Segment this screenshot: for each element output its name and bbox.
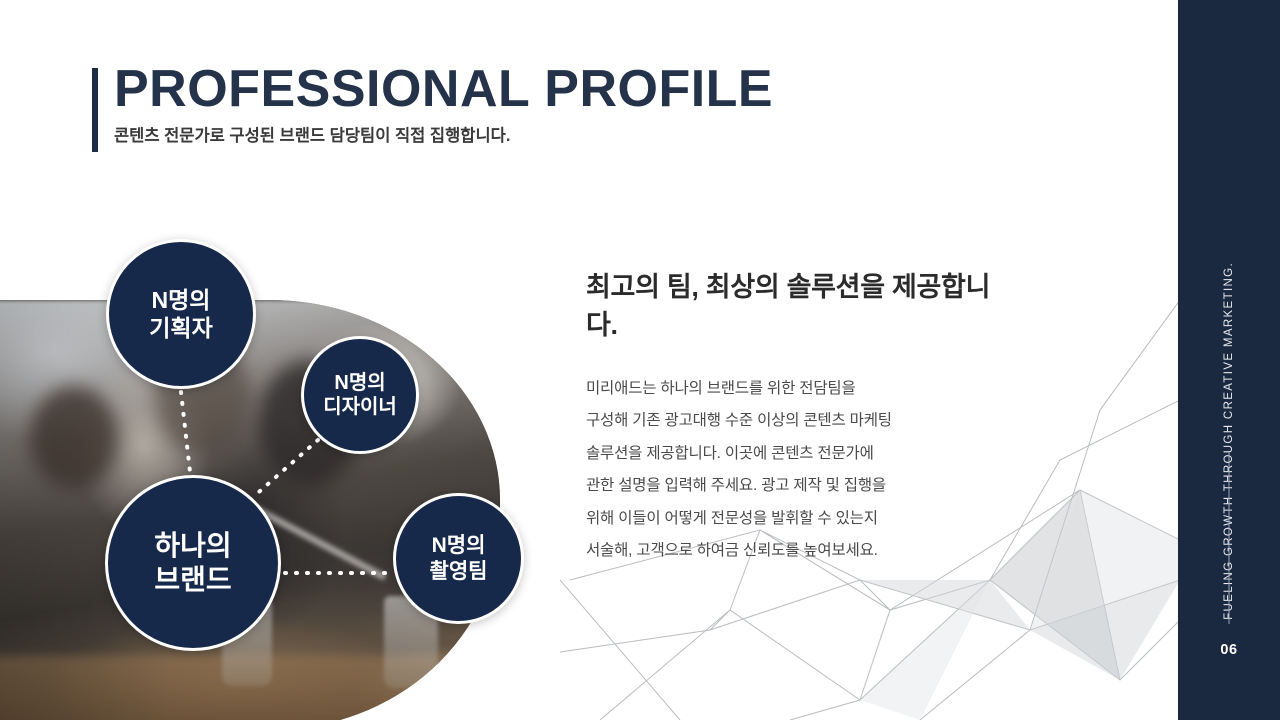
page-subtitle: 콘텐츠 전문가로 구성된 브랜드 담당팀이 직접 집행합니다.	[114, 122, 773, 146]
node-shoot-line1: N명의	[432, 533, 486, 559]
body-line-1: 미리애드는 하나의 브랜드를 위한 전담팀을	[586, 373, 1016, 406]
node-designer-line1: N명의	[334, 371, 385, 395]
page-number: 06	[1178, 642, 1280, 658]
right-sidebar: FUELING GROWTH THROUGH CREATIVE MARKETIN…	[1178, 0, 1280, 720]
node-planner-line2: 기획자	[149, 314, 212, 342]
body-paragraph: 미리애드는 하나의 브랜드를 위한 전담팀을 구성해 기존 광고대행 수준 이상…	[586, 373, 1016, 568]
node-brand-line2: 브랜드	[154, 563, 231, 597]
node-planner-line1: N명의	[152, 286, 211, 314]
content-column: 최고의 팀, 최상의 솔루션을 제공합니다. 미리애드는 하나의 브랜드를 위한…	[586, 268, 1016, 568]
node-brand-line1: 하나의	[154, 529, 231, 563]
title-accent-bar	[92, 68, 98, 152]
body-line-6: 서술해, 고객으로 하여금 신뢰도를 높여보세요.	[586, 535, 1016, 568]
node-shoot-line2: 촬영팀	[430, 559, 488, 585]
body-line-3: 솔루션을 제공합니다. 이곳에 콘텐츠 전문가에	[586, 438, 1016, 471]
diagram-node-brand[interactable]: 하나의 브랜드	[105, 475, 281, 651]
connector-designer-brand	[252, 440, 318, 498]
diagram-node-planner[interactable]: N명의 기획자	[106, 239, 256, 389]
diagram-node-designer[interactable]: N명의 디자이너	[301, 336, 419, 454]
lead-heading: 최고의 팀, 최상의 솔루션을 제공합니다.	[586, 268, 1016, 345]
slide-header: PROFESSIONAL PROFILE 콘텐츠 전문가로 구성된 브랜드 담당…	[92, 62, 773, 146]
body-line-5: 위해 이들이 어떻게 전문성을 발휘할 수 있는지	[586, 503, 1016, 536]
node-designer-line2: 디자이너	[323, 395, 397, 419]
slide: PROFESSIONAL PROFILE 콘텐츠 전문가로 구성된 브랜드 담당…	[0, 0, 1280, 720]
sidebar-divider-line	[1229, 452, 1230, 624]
page-title: PROFESSIONAL PROFILE	[114, 62, 773, 116]
lead-heading-line1: 최고의 팀,	[586, 272, 699, 302]
body-line-4: 관한 설명을 입력해 주세요. 광고 제작 및 집행을	[586, 470, 1016, 503]
connector-planner-brand	[181, 392, 190, 472]
diagram-node-shooting-team[interactable]: N명의 촬영팀	[393, 493, 524, 624]
body-line-2: 구성해 기존 광고대행 수준 이상의 콘텐츠 마케팅	[586, 405, 1016, 438]
